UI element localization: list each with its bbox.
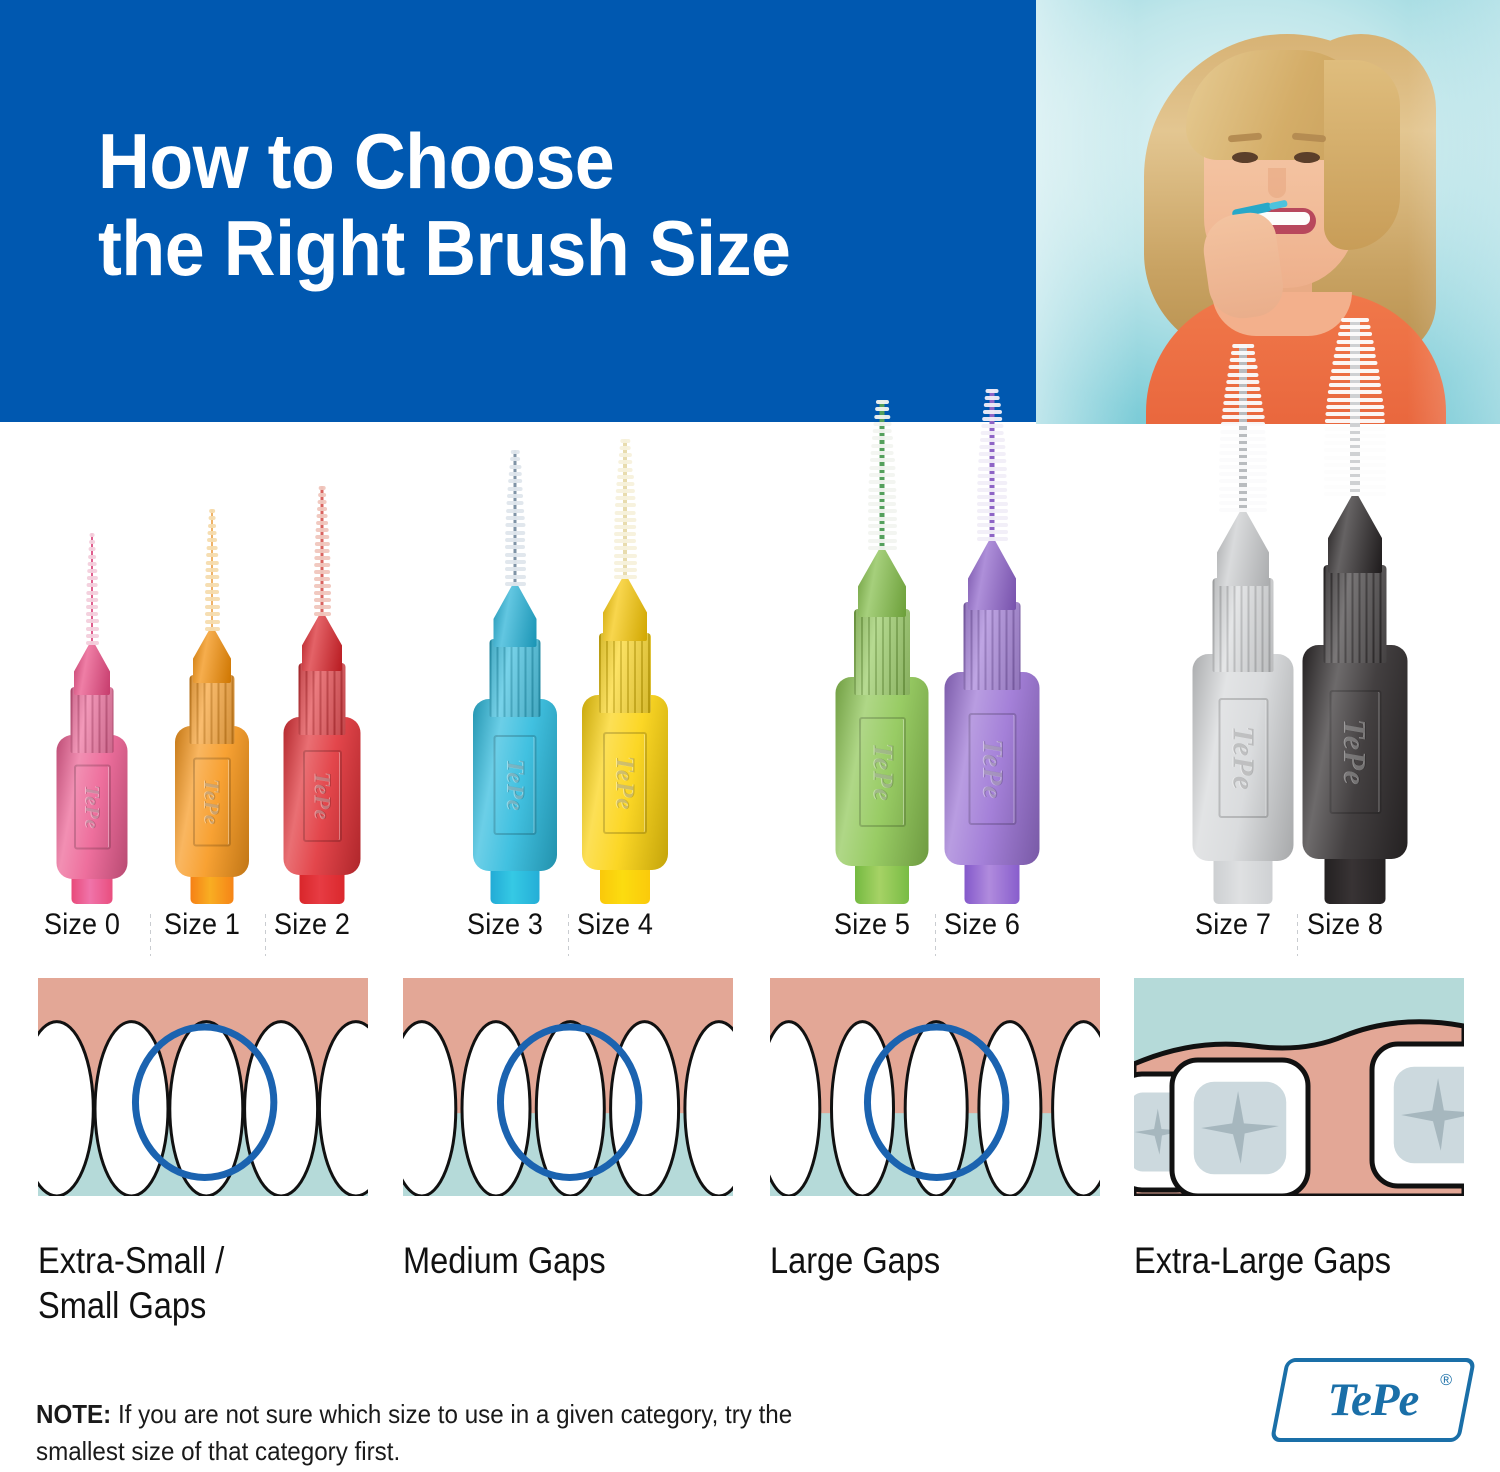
brush-collar xyxy=(1324,565,1387,663)
bristle xyxy=(1326,405,1384,409)
bristle xyxy=(982,410,1001,414)
bristle xyxy=(871,436,892,440)
bristle xyxy=(1230,358,1256,362)
bristle xyxy=(1231,351,1255,355)
bristle xyxy=(1324,463,1386,467)
bristle xyxy=(314,542,329,546)
size-label-1: Size 1 xyxy=(164,908,240,942)
brush-neck-cone xyxy=(968,535,1016,610)
brush-4: TePe xyxy=(582,444,668,924)
brush-8: TePe xyxy=(1303,444,1408,924)
bristle xyxy=(508,472,521,476)
bristle xyxy=(868,502,897,506)
brush-bristles xyxy=(205,509,220,631)
bristle xyxy=(614,532,637,536)
brush-handle-brandmark: TePe xyxy=(976,738,1009,799)
bristle xyxy=(618,460,633,464)
bristle xyxy=(980,431,1004,435)
bristle xyxy=(868,539,897,543)
bristle xyxy=(978,452,1005,456)
bristle xyxy=(318,486,326,490)
brush-bristles xyxy=(1324,318,1386,496)
bristle xyxy=(1220,444,1267,448)
bristle xyxy=(86,598,99,602)
bristle xyxy=(88,555,97,559)
bristle xyxy=(615,496,635,500)
bristle xyxy=(1330,376,1380,380)
bristle xyxy=(1219,501,1267,505)
bristle xyxy=(1338,332,1372,336)
brush-neck-cone xyxy=(74,639,110,695)
bristle xyxy=(618,453,631,457)
bristle xyxy=(208,516,216,520)
logo-wordmark: TePe xyxy=(1278,1358,1468,1442)
bristle xyxy=(507,494,524,498)
bristle xyxy=(984,396,1000,400)
bristle xyxy=(874,415,890,419)
bristle xyxy=(205,575,219,579)
brush-bristles xyxy=(1219,344,1267,512)
bristle xyxy=(868,488,896,492)
brush-lineup: TePeTePeTePeTePeTePeTePeTePeTePeTePe xyxy=(0,424,1500,924)
bristle xyxy=(1324,434,1386,438)
bristle xyxy=(619,446,631,450)
brush-handle: TePe xyxy=(175,726,249,877)
bristle xyxy=(985,389,999,393)
bristle xyxy=(316,514,328,518)
bristle xyxy=(620,439,630,443)
bristle xyxy=(314,591,331,595)
bristle xyxy=(1324,470,1386,474)
size-label-6: Size 6 xyxy=(944,908,1020,942)
bristle xyxy=(979,438,1004,442)
bristle xyxy=(977,516,1008,520)
bristle xyxy=(1219,458,1267,462)
page-title-line2: the Right Brush Size xyxy=(98,205,926,292)
bristle xyxy=(206,546,218,550)
note-text: NOTE: If you are not sure which size to … xyxy=(36,1396,854,1470)
bristle xyxy=(1223,401,1262,405)
bristle xyxy=(1328,390,1382,394)
size-label-8: Size 8 xyxy=(1307,908,1383,942)
size-divider xyxy=(265,914,266,956)
bristle xyxy=(869,473,896,477)
gap-caption-row: Extra-Small / Small GapsMedium GapsLarge… xyxy=(0,1238,1500,1348)
gap-caption-1: Medium Gaps xyxy=(403,1238,606,1283)
bristle xyxy=(86,641,99,645)
bristle xyxy=(1219,479,1267,483)
bristle xyxy=(205,605,220,609)
bristle xyxy=(614,568,637,572)
bristle xyxy=(505,545,526,549)
bristle xyxy=(1224,394,1261,398)
note-prefix: NOTE: xyxy=(36,1399,111,1429)
bristle xyxy=(1324,448,1386,452)
brush-neck-cone xyxy=(193,625,231,683)
bristle xyxy=(614,511,636,515)
bristle xyxy=(977,467,1006,471)
bristle xyxy=(86,583,98,587)
brush-3: TePe xyxy=(473,444,557,924)
size-label-row: Size 0Size 1Size 2Size 3Size 4Size 5Size… xyxy=(0,908,1500,964)
registered-trademark-icon: ® xyxy=(1440,1372,1452,1390)
bristle xyxy=(314,584,331,588)
bristle xyxy=(505,575,526,579)
bristle xyxy=(1334,354,1376,358)
bristle xyxy=(1220,437,1266,441)
bristle xyxy=(505,516,525,520)
brush-handle: TePe xyxy=(1303,645,1408,859)
photo-vignette xyxy=(1036,0,1500,424)
bristle xyxy=(1324,456,1386,460)
bristle xyxy=(614,539,637,543)
bristle xyxy=(1219,451,1267,455)
bristle xyxy=(86,627,99,631)
brush-collar xyxy=(190,675,235,744)
bristle xyxy=(87,569,97,573)
brush-bristles xyxy=(505,450,526,586)
bristle xyxy=(505,523,525,527)
bristle xyxy=(207,538,218,542)
brush-collar xyxy=(854,609,910,695)
bristle xyxy=(1222,408,1263,412)
bristle xyxy=(871,444,894,448)
bristle xyxy=(1324,441,1386,445)
bristle xyxy=(1324,477,1386,481)
brush-bristles xyxy=(86,533,99,645)
bristle xyxy=(1229,365,1258,369)
bristle xyxy=(977,509,1008,513)
bristle xyxy=(205,590,220,594)
gap-panel-0 xyxy=(38,978,368,1196)
bristle xyxy=(616,475,633,479)
brush-bristles xyxy=(977,389,1008,541)
brush-collar xyxy=(1213,578,1274,672)
bristle xyxy=(314,549,330,553)
bristle xyxy=(1226,380,1259,384)
bristle xyxy=(318,493,327,497)
bristle xyxy=(207,531,217,535)
bristle xyxy=(983,403,1000,407)
brush-handle-brandmark: TePe xyxy=(199,778,225,824)
bristle xyxy=(1332,361,1377,365)
brush-5: TePe xyxy=(836,444,929,924)
brush-neck-cone xyxy=(603,573,647,641)
bristle xyxy=(617,468,633,472)
bristle xyxy=(315,535,330,539)
bristle xyxy=(614,554,637,558)
gap-illustration-row xyxy=(0,978,1500,1196)
bristle xyxy=(977,502,1008,506)
bristle xyxy=(872,429,892,433)
header-photo xyxy=(1036,0,1500,424)
bristle xyxy=(510,457,521,461)
bristle xyxy=(977,474,1007,478)
brush-handle: TePe xyxy=(836,677,929,866)
gap-caption-0: Extra-Small / Small Gaps xyxy=(38,1238,224,1328)
size-label-3: Size 3 xyxy=(467,908,543,942)
header-blue-panel: How to Choose the Right Brush Size xyxy=(0,0,1036,422)
bristle xyxy=(86,605,99,609)
tepe-logo: TePe ® xyxy=(1278,1358,1468,1442)
bristle xyxy=(616,482,634,486)
bristle xyxy=(868,524,897,528)
brush-neck-cone xyxy=(858,544,906,617)
bristle xyxy=(868,546,897,550)
size-label-0: Size 0 xyxy=(44,908,120,942)
brush-handle: TePe xyxy=(473,699,557,871)
bristle xyxy=(89,533,95,537)
size-divider xyxy=(568,914,569,956)
gap-panel-1 xyxy=(403,978,733,1196)
bristle xyxy=(977,530,1008,534)
brush-handle: TePe xyxy=(284,717,361,875)
bristle xyxy=(509,465,521,469)
bristle xyxy=(1219,494,1267,498)
bristle xyxy=(977,523,1008,527)
brush-bristles xyxy=(614,439,637,579)
bristle xyxy=(868,509,897,513)
bristle xyxy=(314,605,331,609)
size-divider xyxy=(935,914,936,956)
page-title-line1: How to Choose xyxy=(98,117,614,205)
bristle xyxy=(870,451,894,455)
bristle xyxy=(981,424,1003,428)
bristle xyxy=(1219,487,1267,491)
bristle xyxy=(1219,508,1267,512)
bristle xyxy=(1227,373,1258,377)
brush-handle-brandmark: TePe xyxy=(866,742,898,801)
bristle xyxy=(86,634,99,638)
brush-handle-brandmark: TePe xyxy=(610,755,640,809)
bristle xyxy=(506,501,524,505)
bristle xyxy=(208,524,217,528)
bristle xyxy=(1232,344,1254,348)
bristle xyxy=(614,525,637,529)
bristle xyxy=(1335,347,1375,351)
bristle xyxy=(205,583,220,587)
bristle xyxy=(873,422,891,426)
bristle xyxy=(314,563,331,567)
bristle xyxy=(875,407,890,411)
bristle xyxy=(316,521,329,525)
bristle xyxy=(508,479,523,483)
size-label-4: Size 4 xyxy=(577,908,653,942)
size-divider xyxy=(150,914,151,956)
brush-collar xyxy=(71,687,114,753)
brush-2: TePe xyxy=(284,444,361,924)
brush-neck-cone xyxy=(494,580,537,647)
bristle xyxy=(209,509,216,513)
bristle xyxy=(1220,430,1265,434)
bristle xyxy=(314,598,331,602)
bristle xyxy=(510,450,519,454)
bristle xyxy=(1219,465,1267,469)
note-body: If you are not sure which size to use in… xyxy=(36,1399,792,1466)
page-title: How to Choose the Right Brush Size xyxy=(98,118,926,293)
bristle xyxy=(870,458,895,462)
bristle xyxy=(505,553,526,557)
bristle xyxy=(1222,415,1265,419)
bristle xyxy=(1219,472,1267,476)
brush-6: TePe xyxy=(945,444,1040,924)
bristle xyxy=(314,556,330,560)
bristle xyxy=(1324,485,1386,489)
bristle xyxy=(86,591,98,595)
bristle xyxy=(1341,318,1369,322)
bristle xyxy=(505,531,526,535)
bristle xyxy=(979,445,1005,449)
bristle xyxy=(614,561,637,565)
bristle xyxy=(317,507,328,511)
bristle xyxy=(1329,383,1381,387)
bristle xyxy=(1331,369,1379,373)
brush-collar xyxy=(599,633,651,713)
bristle xyxy=(977,537,1008,541)
brush-handle: TePe xyxy=(582,695,668,870)
bristle xyxy=(205,597,220,601)
brush-handle: TePe xyxy=(57,735,128,879)
bristle xyxy=(314,577,331,581)
brush-handle-brandmark: TePe xyxy=(309,772,335,820)
brush-bristles xyxy=(314,486,331,616)
bristle xyxy=(205,612,220,616)
bristle xyxy=(868,480,896,484)
bristle xyxy=(1337,340,1374,344)
bristle xyxy=(505,567,526,571)
bristle xyxy=(1221,422,1265,426)
bristle xyxy=(977,495,1008,499)
brush-1: TePe xyxy=(175,444,249,924)
bristle xyxy=(982,417,1003,421)
bristle xyxy=(977,481,1007,485)
size-label-5: Size 5 xyxy=(834,908,910,942)
bristle xyxy=(977,488,1008,492)
brush-0: TePe xyxy=(57,444,128,924)
bristle xyxy=(978,459,1006,463)
bristle xyxy=(205,561,218,565)
brush-handle: TePe xyxy=(945,672,1040,865)
brush-collar xyxy=(964,602,1021,690)
brush-handle-brandmark: TePe xyxy=(1225,725,1261,790)
bristle xyxy=(89,540,96,544)
bristle xyxy=(506,509,525,513)
bristle xyxy=(315,528,329,532)
bristle xyxy=(615,489,634,493)
bristle xyxy=(614,518,636,522)
brush-handle-brandmark: TePe xyxy=(501,759,529,811)
brush-7: TePe xyxy=(1193,444,1294,924)
gap-panel-3 xyxy=(1134,978,1464,1196)
bristle xyxy=(614,546,637,550)
bristle xyxy=(505,582,526,586)
brush-neck-cone xyxy=(302,610,342,671)
header-banner: How to Choose the Right Brush Size xyxy=(0,0,1500,424)
size-label-2: Size 2 xyxy=(274,908,350,942)
bristle xyxy=(88,547,96,551)
bristle xyxy=(86,576,97,580)
bristle xyxy=(1327,398,1383,402)
bristle xyxy=(507,487,523,491)
brush-bristles xyxy=(868,400,897,550)
brush-handle-brandmark: TePe xyxy=(1337,719,1374,786)
bristle xyxy=(1325,427,1386,431)
gap-caption-3: Extra-Large Gaps xyxy=(1134,1238,1391,1283)
bristle xyxy=(1326,412,1385,416)
bristle xyxy=(314,612,331,616)
bristle xyxy=(317,500,327,504)
bristle xyxy=(1324,492,1386,496)
bristle xyxy=(505,538,526,542)
bristle xyxy=(205,568,219,572)
bristle xyxy=(869,466,895,470)
bristle xyxy=(86,619,99,623)
bristle xyxy=(875,400,888,404)
gap-panel-2 xyxy=(770,978,1100,1196)
bristle xyxy=(1325,419,1385,423)
bristle xyxy=(87,562,97,566)
brush-handle-brandmark: TePe xyxy=(80,785,105,829)
bristle xyxy=(614,503,635,507)
bristle xyxy=(205,627,220,631)
bristle xyxy=(1225,387,1260,391)
size-label-7: Size 7 xyxy=(1195,908,1271,942)
bristle xyxy=(614,575,637,579)
bristle xyxy=(86,612,99,616)
bristle xyxy=(314,570,331,574)
bristle xyxy=(868,531,897,535)
brush-neck-cone xyxy=(1217,506,1269,586)
bristle xyxy=(868,517,897,521)
bristle xyxy=(1340,325,1371,329)
brush-neck-cone xyxy=(1328,490,1382,573)
gap-caption-2: Large Gaps xyxy=(770,1238,940,1283)
brush-handle: TePe xyxy=(1193,654,1294,861)
bristle xyxy=(205,620,220,624)
bristle xyxy=(206,553,219,557)
bristle xyxy=(505,560,526,564)
size-divider xyxy=(1297,914,1298,956)
brush-collar xyxy=(490,639,541,717)
brush-collar xyxy=(299,663,346,735)
bristle xyxy=(868,495,897,499)
